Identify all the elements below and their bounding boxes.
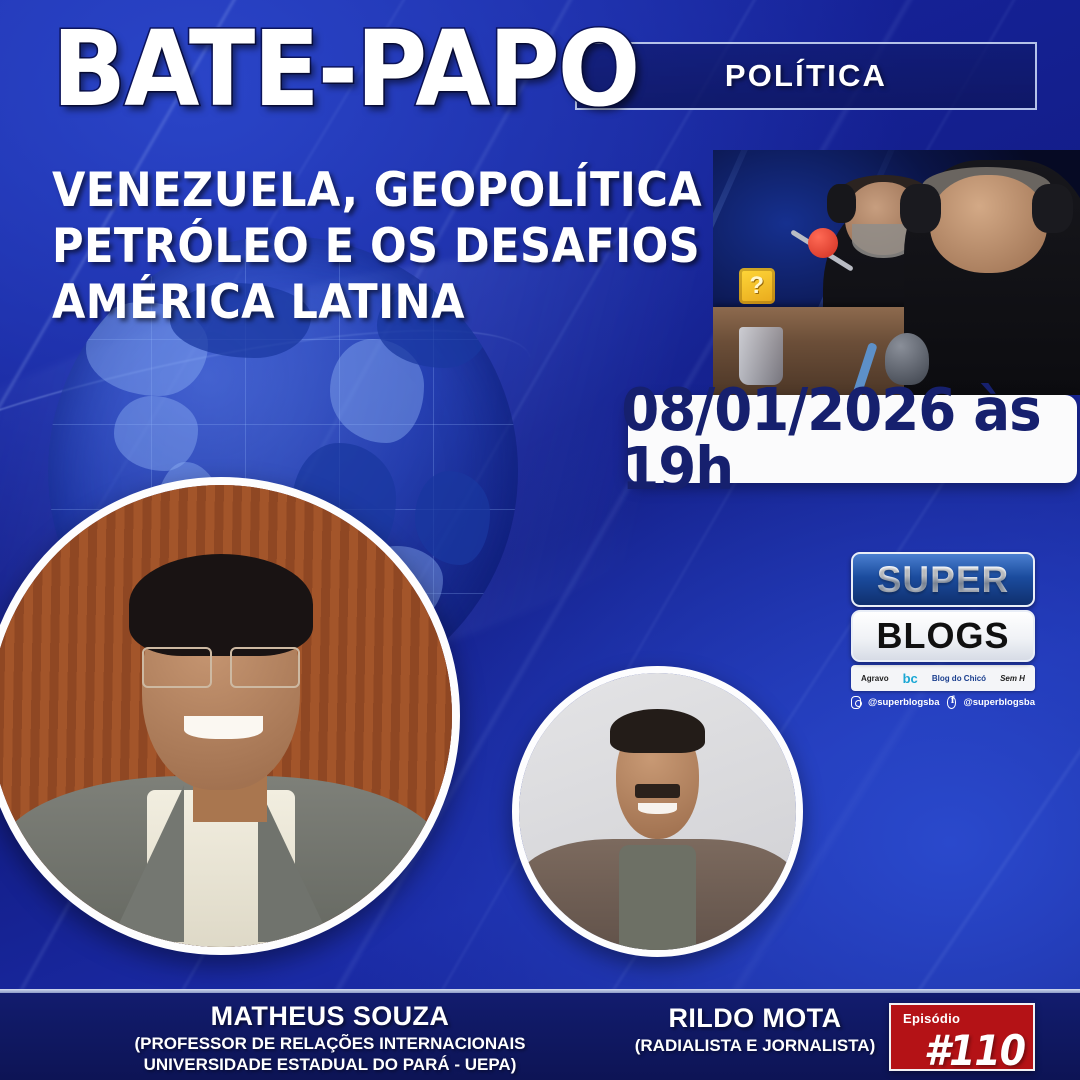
date-time-badge: 08/01/2026 às 19h bbox=[628, 395, 1077, 483]
logo-blogs-plate: BLOGS bbox=[851, 610, 1035, 662]
partner-agravo-logo[interactable]: Agravo bbox=[861, 674, 889, 683]
poster-canvas: POLÍTICA BATE-PAPO VENEZUELA, GEOPOLÍTIC… bbox=[0, 0, 1080, 1080]
episode-label: Episódio bbox=[903, 1011, 960, 1026]
eyeglasses-icon bbox=[142, 647, 299, 689]
mystery-block-icon: ? bbox=[739, 268, 775, 304]
podcast-studio-photo: ? bbox=[713, 150, 1080, 395]
category-badge: POLÍTICA bbox=[575, 42, 1037, 110]
headphone-icon bbox=[1032, 184, 1072, 233]
instagram-icon[interactable] bbox=[851, 696, 861, 709]
instagram-handle[interactable]: @superblogsba bbox=[868, 697, 940, 708]
partner-logo-strip: Agravo bc Blog do Chicó Sem H bbox=[851, 665, 1035, 691]
subtitle-line-3: AMÉRICA LATINA bbox=[52, 275, 664, 331]
super-blogs-logo[interactable]: SUPER BLOGS Agravo bc Blog do Chicó Sem … bbox=[851, 552, 1035, 704]
rildo-mota-portrait bbox=[512, 666, 803, 957]
guest-role-line-2: UNIVERSIDADE ESTADUAL DO PARÁ - UEPA) bbox=[10, 1055, 650, 1074]
partner-blog-do-chico-logo[interactable]: Blog do Chicó bbox=[932, 674, 986, 683]
subtitle-line-1: VENEZUELA, GEOPOLÍTICA DO bbox=[52, 163, 664, 219]
episode-number: #110 bbox=[924, 1026, 1025, 1071]
logo-blogs-text: BLOGS bbox=[876, 615, 1009, 657]
episode-subtitle: VENEZUELA, GEOPOLÍTICA DO PETRÓLEO E OS … bbox=[52, 163, 664, 331]
partner-sem-h-logo[interactable]: Sem H bbox=[1000, 674, 1025, 683]
subtitle-line-2: PETRÓLEO E OS DESAFIOS DA bbox=[52, 219, 664, 275]
facebook-handle[interactable]: @superblogsba bbox=[963, 697, 1035, 708]
episode-badge: Episódio #110 bbox=[889, 1003, 1035, 1071]
category-label: POLÍTICA bbox=[725, 58, 887, 94]
logo-super-plate: SUPER bbox=[851, 552, 1035, 607]
headphone-icon bbox=[900, 184, 940, 233]
guest-credits-bar: MATHEUS SOUZA (PROFESSOR DE RELAÇÕES INT… bbox=[0, 993, 1080, 1080]
page-title: BATE-PAPO bbox=[52, 17, 638, 121]
facebook-icon[interactable] bbox=[947, 696, 957, 709]
social-handles: @superblogsba @superblogsba bbox=[851, 696, 1035, 709]
headphone-icon bbox=[827, 184, 856, 223]
matheus-souza-portrait bbox=[0, 477, 460, 955]
partner-bc-logo[interactable]: bc bbox=[903, 671, 918, 686]
logo-super-text: SUPER bbox=[877, 559, 1009, 601]
date-time-label: 08/01/2026 às 19h bbox=[621, 380, 1080, 498]
